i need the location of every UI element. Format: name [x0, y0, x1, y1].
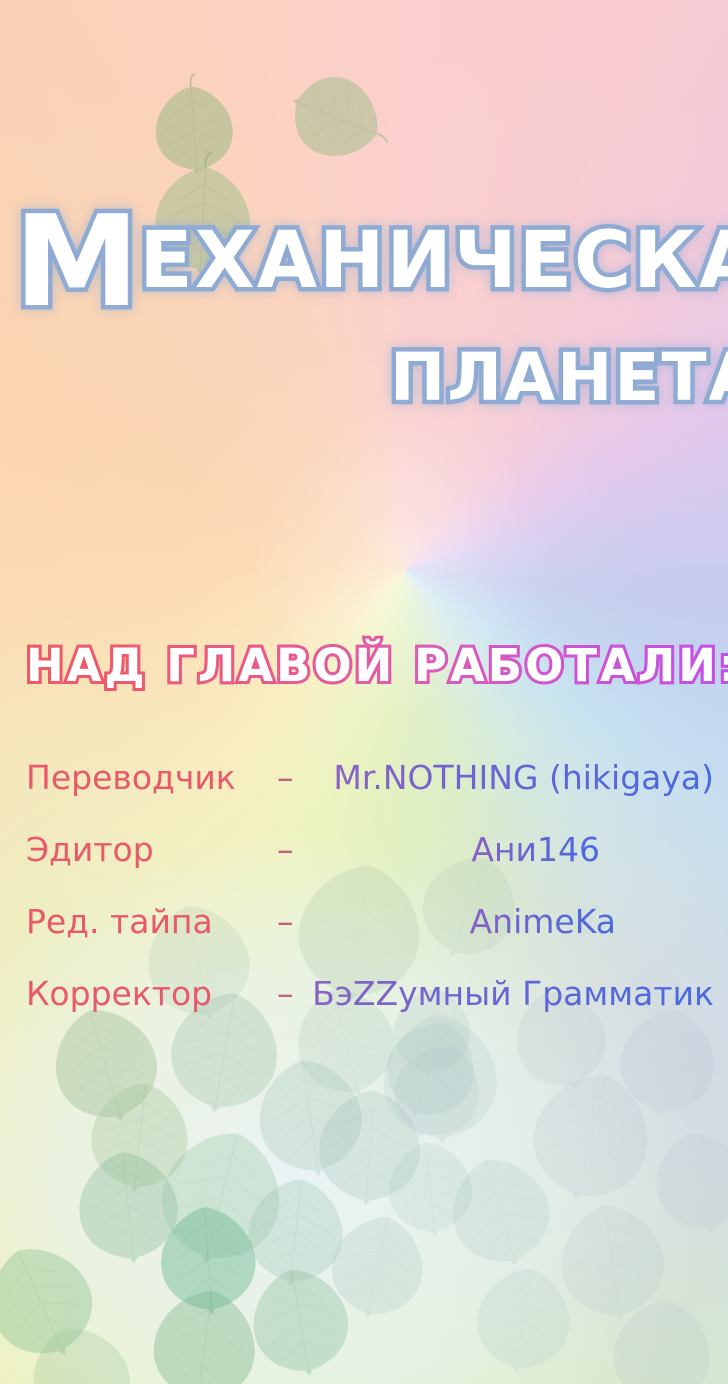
title-leading-letter: М — [14, 188, 139, 335]
credit-person-name: БэZZумный Грамматик — [312, 974, 714, 1013]
credit-separator: – — [277, 974, 294, 1013]
credit-role-label: Ред. тайпа — [26, 902, 213, 941]
credit-separator: – — [277, 902, 294, 941]
title-line-1-rest: еханическая — [139, 216, 728, 306]
comic-credits-page: Механическая планета Над главой работали… — [0, 0, 728, 1384]
title-line-1: Механическая — [14, 213, 728, 310]
title-line-2: планета — [390, 337, 728, 419]
credits-list: Переводчик – Mr.NOTHING (hikigaya) Эдито… — [0, 752, 728, 1040]
credit-person-name: Mr.NOTHING (hikigaya) — [333, 758, 714, 797]
credit-row: Эдитор – Ани146 — [0, 824, 728, 896]
credit-person-name: Ани146 — [471, 830, 600, 869]
credit-separator: – — [277, 830, 294, 869]
credit-row: Ред. тайпа – AnimeKa — [0, 896, 728, 968]
title-block: Механическая планета — [0, 205, 728, 435]
credit-person-name: AnimeKa — [470, 902, 616, 941]
credit-separator: – — [277, 758, 294, 797]
credit-role-label: Корректор — [26, 974, 212, 1013]
credit-row: Корректор – БэZZумный Грамматик — [0, 968, 728, 1040]
leaf-top-1 — [153, 73, 236, 177]
leaf-top-2 — [278, 64, 391, 171]
credit-role-label: Переводчик — [26, 758, 236, 797]
credit-row: Переводчик – Mr.NOTHING (hikigaya) — [0, 752, 728, 824]
credits-heading-stroke-base: Над главой работали: — [26, 639, 728, 692]
credit-role-label: Эдитор — [26, 830, 154, 869]
